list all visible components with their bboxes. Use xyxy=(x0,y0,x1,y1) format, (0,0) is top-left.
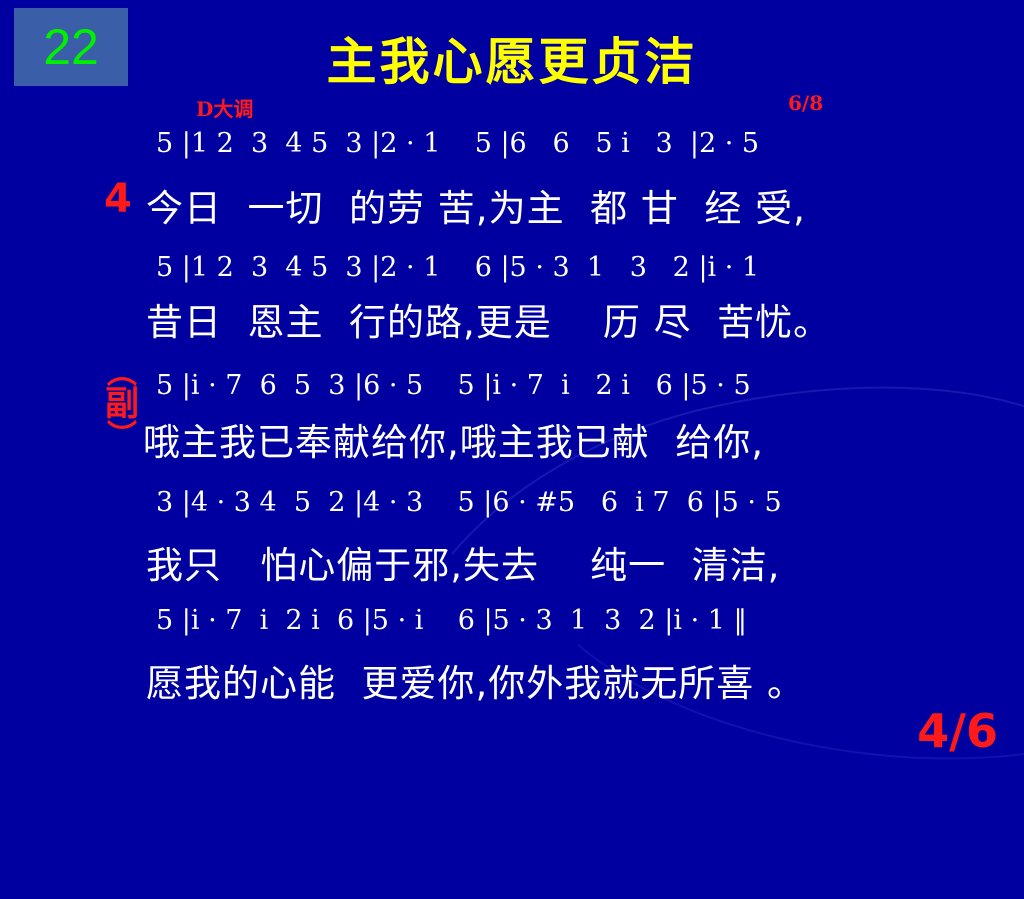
time-signature-label: 6/8 xyxy=(788,91,823,115)
staff-lyrics-line-1: 今日 一切 的劳 苦,为主 都 甘 经 受, xyxy=(146,178,806,232)
staff-lyrics-line-3: 哦主我已奉献给你,哦主我已献 给你, xyxy=(143,412,764,466)
song-title: 主我心愿更贞洁 xyxy=(0,22,1024,94)
staff-notes-line-2: 5 |1 2 3 4 5 3 |2 · 1 6 |5 · 3 1 3 2 |i … xyxy=(156,252,759,283)
staff-notes-line-1: 5 |1 2 3 4 5 3 |2 · 1 5 |6 6 5 i 3 |2 · … xyxy=(156,128,759,159)
staff-notes-line-3: 5 |i · 7 6 5 3 |6 · 5 5 |i · 7 i 2 i 6 |… xyxy=(156,370,751,401)
verse-number-marker: 4 xyxy=(104,176,132,222)
staff-notes-line-5: 5 |i · 7 i 2 i 6 |5 · i 6 |5 · 3 1 3 2 |… xyxy=(156,605,747,636)
staff-notes-line-4: 3 |4 · 3 4 5 2 |4 · 3 5 |6 · #5 6 i 7 6 … xyxy=(156,487,782,518)
staff-lyrics-line-4: 我只 怕心偏于邪,失去 纯一 清洁, xyxy=(146,535,780,589)
staff-lyrics-line-5: 愿我的心能 更爱你,你外我就无所喜 。 xyxy=(146,653,805,707)
page-counter: 4/6 xyxy=(917,704,998,758)
key-signature-label: D大调 xyxy=(196,93,253,122)
staff-lyrics-line-2: 昔日 恩主 行的路,更是 历 尽 苦忧。 xyxy=(146,292,831,346)
chorus-open-paren-icon: ︵ xyxy=(92,360,152,387)
